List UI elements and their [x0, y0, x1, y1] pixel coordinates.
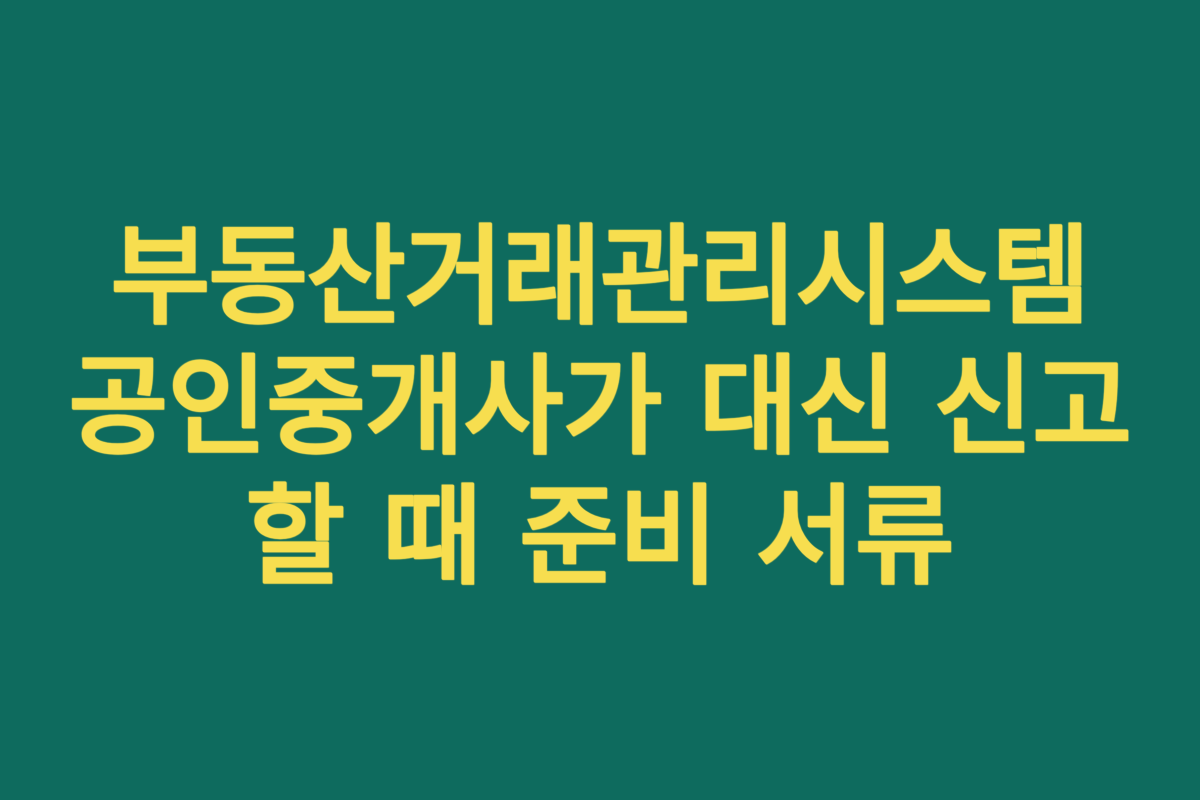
headline-line-3: 할 때 준비 서류: [50, 473, 1150, 603]
headline-block: 부동산거래관리시스템 공인중개사가 대신 신고 할 때 준비 서류: [50, 197, 1150, 603]
text-card: 부동산거래관리시스템 공인중개사가 대신 신고 할 때 준비 서류: [0, 0, 1200, 800]
headline-line-1: 부동산거래관리시스템: [50, 213, 1150, 343]
headline-line-2: 공인중개사가 대신 신고: [50, 343, 1150, 473]
